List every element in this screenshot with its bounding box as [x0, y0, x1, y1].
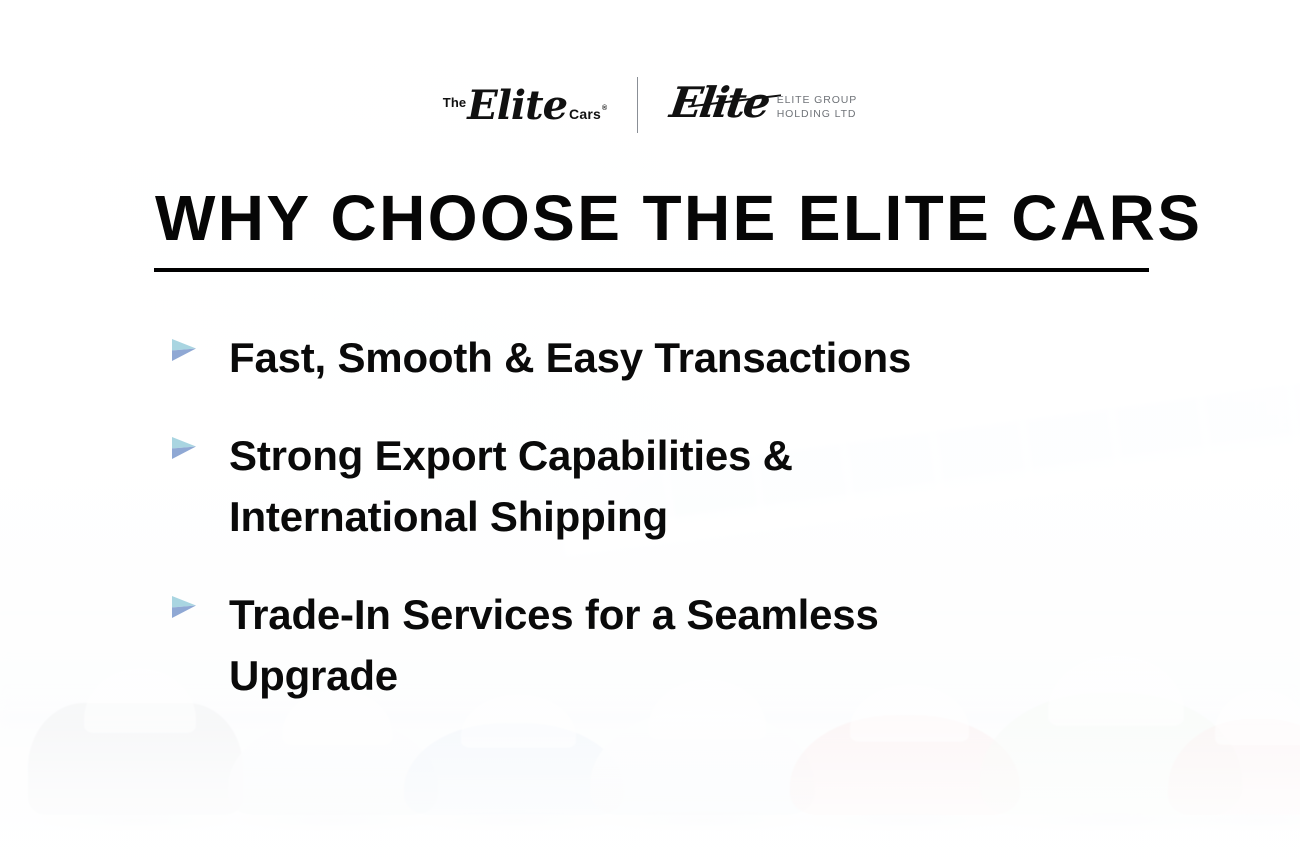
- arrow-right-icon: [168, 335, 198, 365]
- arrow-right-icon: [168, 592, 198, 622]
- elite-script-mark: Elite: [667, 82, 770, 124]
- logo-the-text: The: [443, 95, 466, 110]
- registered-mark-icon: ®: [602, 105, 607, 112]
- the-elite-cars-logo: The Elite Cars ®: [443, 82, 637, 129]
- elite-group-line-2: HOLDING LTD: [777, 108, 857, 120]
- list-item: Strong Export Capabilities & Internation…: [168, 426, 1180, 548]
- list-item: Fast, Smooth & Easy Transactions: [168, 328, 1180, 389]
- list-item-label: Strong Export Capabilities & Internation…: [229, 426, 1029, 548]
- list-item: Trade-In Services for a Seamless Upgrade: [168, 585, 1180, 707]
- elite-group-line-1: ELITE GROUP: [777, 94, 858, 106]
- title-underline-rule: [154, 268, 1149, 272]
- list-item-label: Trade-In Services for a Seamless Upgrade: [229, 585, 1029, 707]
- elite-group-holding-logo: Elite ELITE GROUP HOLDING LTD: [638, 84, 857, 126]
- elite-group-wordmark: ELITE GROUP HOLDING LTD: [777, 94, 858, 122]
- arrow-right-icon: [168, 433, 198, 463]
- logo-cars-text: Cars: [569, 106, 601, 122]
- promo-slide: The Elite Cars ® Elite ELITE GROUP HOLDI…: [0, 0, 1300, 867]
- logo-elite-text: Elite: [467, 82, 567, 129]
- benefits-list: Fast, Smooth & Easy Transactions Strong …: [168, 328, 1180, 706]
- slide-content: The Elite Cars ® Elite ELITE GROUP HOLDI…: [0, 0, 1300, 867]
- logo-bar: The Elite Cars ® Elite ELITE GROUP HOLDI…: [0, 74, 1300, 136]
- list-item-label: Fast, Smooth & Easy Transactions: [229, 328, 911, 389]
- page-title: WHY CHOOSE THE ELITE CARS: [155, 186, 1202, 250]
